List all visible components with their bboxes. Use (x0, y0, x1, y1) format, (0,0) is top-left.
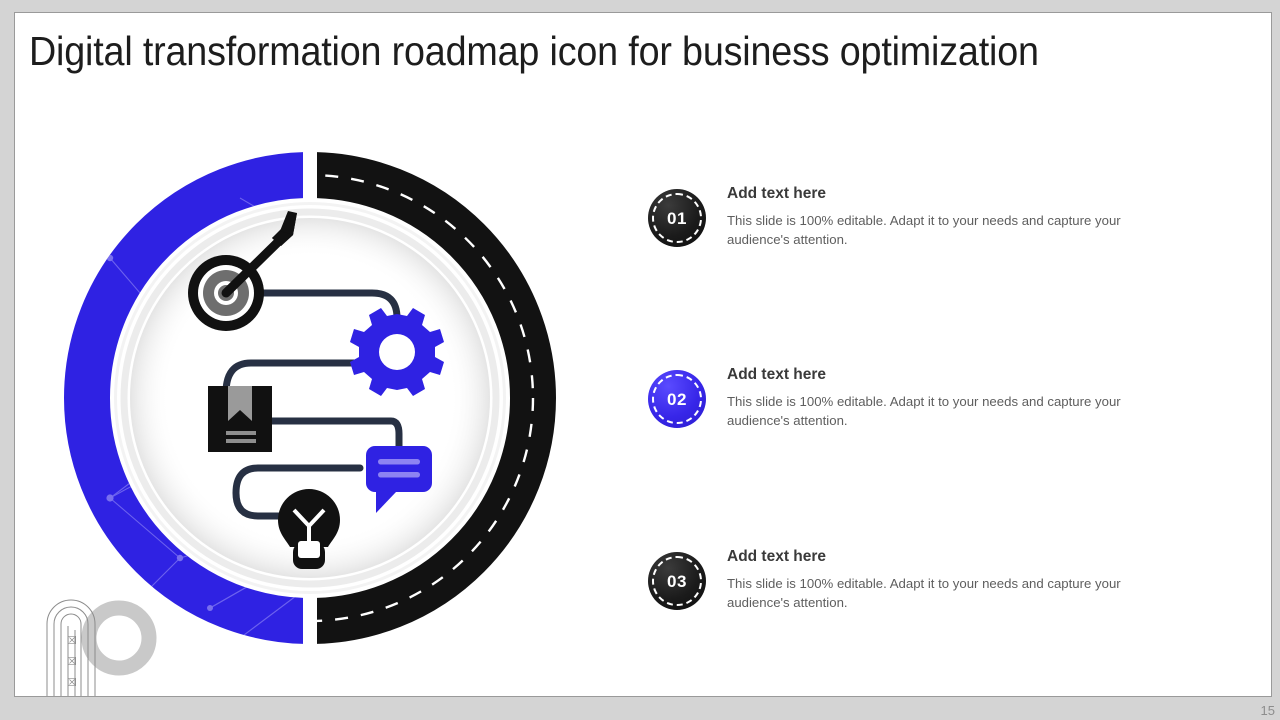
steps-list: 01 Add text here This slide is 100% edit… (635, 173, 1165, 623)
package-box-icon (208, 386, 272, 452)
page-title: Digital transformation roadmap icon for … (29, 27, 1115, 75)
page-number: 15 (1261, 703, 1275, 718)
step-description: This slide is 100% editable. Adapt it to… (727, 212, 1139, 249)
step-badge-01[interactable]: 01 (648, 189, 706, 247)
step-number: 03 (667, 572, 687, 592)
list-item: 01 Add text here This slide is 100% edit… (635, 173, 1165, 323)
step-number: 01 (667, 209, 687, 229)
step-description: This slide is 100% editable. Adapt it to… (727, 575, 1139, 612)
step-body: Add text here This slide is 100% editabl… (727, 185, 1147, 249)
step-number: 02 (667, 390, 687, 410)
list-item: 02 Add text here This slide is 100% edit… (635, 354, 1165, 504)
slide-canvas: Digital transformation roadmap icon for … (14, 12, 1272, 697)
roadmap-circle-diagram (50, 138, 570, 658)
step-description: This slide is 100% editable. Adapt it to… (727, 393, 1139, 430)
step-body: Add text here This slide is 100% editabl… (727, 366, 1147, 430)
step-badge-03[interactable]: 03 (648, 552, 706, 610)
step-body: Add text here This slide is 100% editabl… (727, 548, 1147, 612)
list-item: 03 Add text here This slide is 100% edit… (635, 536, 1165, 686)
screenshot-stage: Digital transformation roadmap icon for … (0, 0, 1280, 720)
step-title: Add text here (727, 185, 1147, 203)
step-badge-02[interactable]: 02 (648, 370, 706, 428)
step-title: Add text here (727, 366, 1147, 384)
svg-text:☒: ☒ (67, 676, 77, 689)
step-title: Add text here (727, 548, 1147, 566)
